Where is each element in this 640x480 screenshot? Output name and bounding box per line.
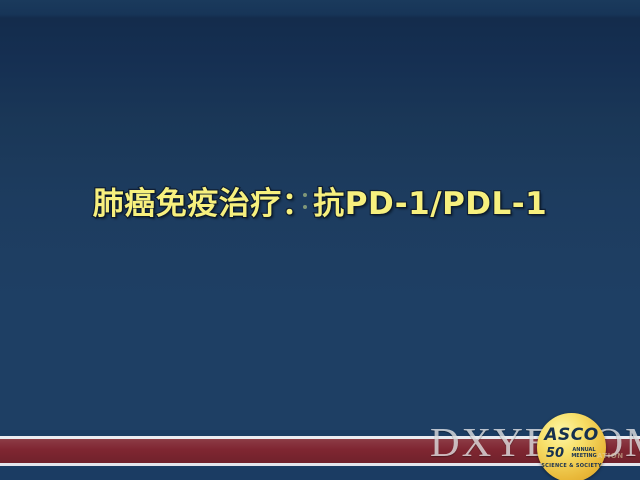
slide-background xyxy=(0,0,640,480)
slide-title-text: 肺癌免疫治疗：抗PD-1/PDL-1 xyxy=(93,178,547,223)
asco-logo-tagline: SCIENCE & SOCIETY xyxy=(537,463,606,469)
presentation-slide: 肺癌免疫治疗：抗PD-1/PDL-1 DXYE.COM ASCO 50 ANNU… xyxy=(0,0,640,480)
asco-logo-meeting-line2: MEETING xyxy=(564,453,604,459)
asco-logo-meeting: ANNUAL MEETING xyxy=(564,447,604,459)
asco-logo-anniversary: 50 xyxy=(546,446,564,461)
asco-logo-wordmark: ASCO xyxy=(537,425,606,445)
asco-logo: ASCO 50 ANNUAL MEETING SCIENCE & SOCIETY xyxy=(537,413,606,480)
slide-title: 肺癌免疫治疗：抗PD-1/PDL-1 xyxy=(0,178,640,223)
